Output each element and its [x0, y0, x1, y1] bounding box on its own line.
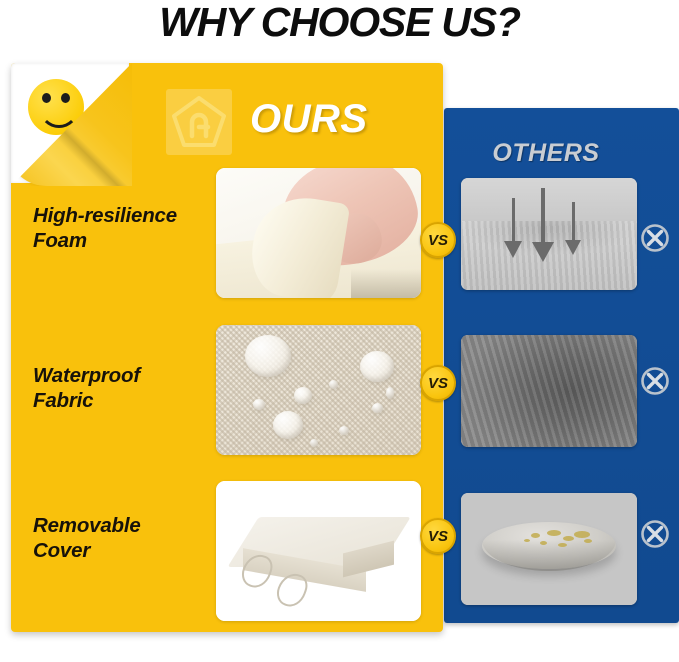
page-title: WHY CHOOSE US?: [0, 0, 679, 44]
waterproof-fabric-image: [216, 325, 421, 455]
others-image-card-2: [461, 335, 637, 447]
house-pentagon-icon: [166, 89, 232, 155]
others-heading: OTHERS: [444, 139, 648, 168]
stained-cushion-image: [461, 493, 637, 605]
others-image-card-1: [461, 178, 637, 290]
feature-label-3-line1: Removable: [33, 513, 213, 538]
ours-heading: OURS: [250, 97, 368, 142]
feature-label-2: Waterproof Fabric: [33, 363, 213, 413]
feature-label-1: High-resilience Foam: [33, 203, 213, 253]
ours-panel: OURS High-resilience Foam Waterproof Fab…: [11, 63, 443, 632]
circle-x-icon-3: [640, 519, 670, 549]
sagging-foam-image: [461, 178, 637, 290]
smiley-face-icon: [28, 79, 84, 135]
others-image-card-3: [461, 493, 637, 605]
feature-label-2-line2: Fabric: [33, 388, 213, 413]
circle-x-icon-1: [640, 223, 670, 253]
circle-x-icon-2: [640, 366, 670, 396]
feature-label-3: Removable Cover: [33, 513, 213, 563]
peeled-corner-reveal: [11, 63, 129, 183]
hand-foam-image: [216, 168, 421, 298]
ours-image-card-1: [216, 168, 421, 298]
ours-image-card-3: [216, 481, 421, 621]
feature-label-3-line2: Cover: [33, 538, 213, 563]
vs-badge-2: VS: [420, 365, 456, 401]
ours-image-card-2: [216, 325, 421, 455]
feature-label-1-line2: Foam: [33, 228, 213, 253]
feature-label-1-line1: High-resilience: [33, 203, 213, 228]
wet-fabric-image: [461, 335, 637, 447]
feature-label-2-line1: Waterproof: [33, 363, 213, 388]
vs-badge-1: VS: [420, 222, 456, 258]
vs-badge-3: VS: [420, 518, 456, 554]
removable-cover-image: [216, 481, 421, 621]
